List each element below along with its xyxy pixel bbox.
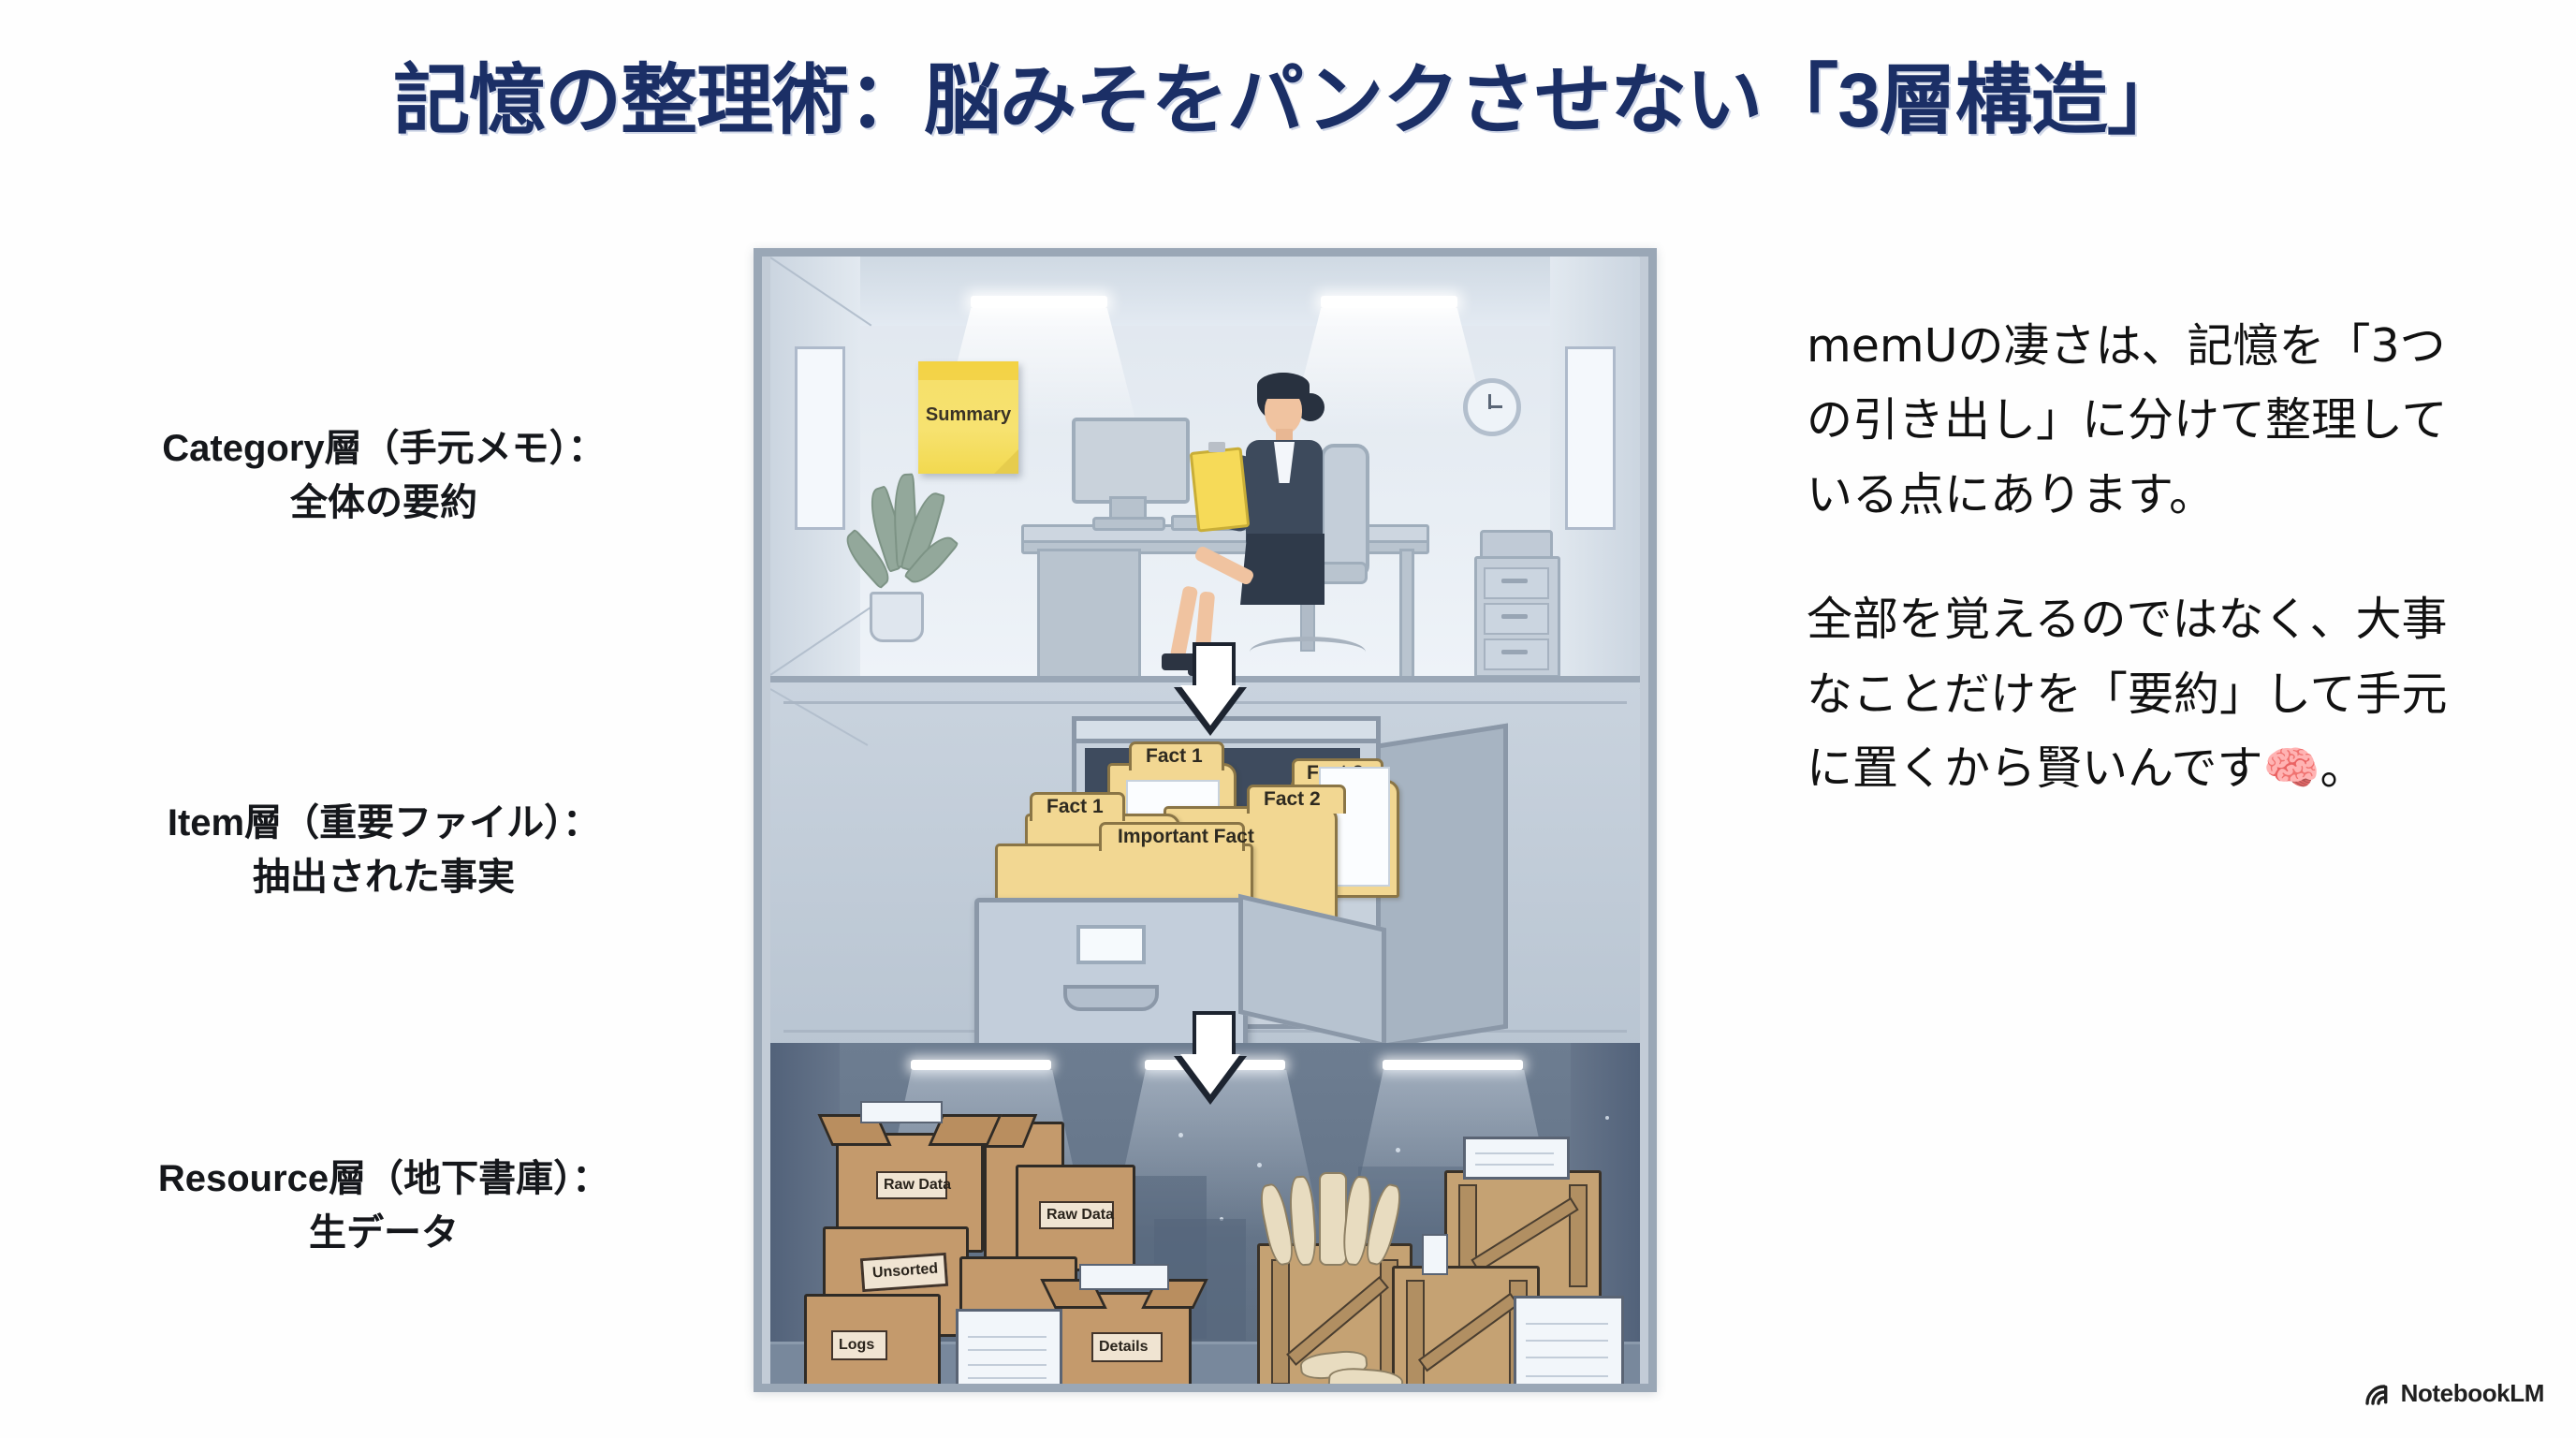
- paper-bundle: [860, 1101, 943, 1123]
- paper-stack-left: [956, 1309, 1062, 1384]
- office-window-left: [795, 346, 845, 530]
- notebooklm-watermark-label: NotebookLM: [2401, 1379, 2544, 1408]
- perspective-line: [1639, 257, 1640, 258]
- notebooklm-spiral-icon: [2364, 1380, 2392, 1408]
- body-text-column: memUの凄さは、記憶を「3つの引き出し」に分けて整理している点にあります。 全…: [1807, 309, 2462, 856]
- summary-sticky-note: Summary: [918, 361, 1018, 474]
- file-folder-label: Fact 1: [1146, 745, 1203, 768]
- cardboard-box: Raw Data: [1016, 1165, 1135, 1271]
- perspective-line: [1640, 676, 1641, 690]
- perspective-line: [770, 688, 868, 746]
- cabinet-drawer-handle: [1501, 614, 1528, 619]
- cabinet-drawer-handle: [1501, 650, 1528, 654]
- wall-clock-icon: [1463, 378, 1521, 436]
- paper-line: [1475, 1152, 1554, 1154]
- office-monitor-base: [1092, 517, 1165, 531]
- paper-line: [1475, 1164, 1554, 1166]
- clipboard: [1190, 447, 1251, 532]
- paper-line: [1526, 1375, 1608, 1377]
- basement-lamp-right: [1383, 1060, 1523, 1070]
- paper-line: [968, 1377, 1046, 1379]
- office-monitor-screen: [1072, 418, 1190, 504]
- box-label: Logs: [839, 1337, 874, 1354]
- crate-slat: [1406, 1280, 1425, 1384]
- layer-label-item-heading: Item層（重要ファイル）：: [56, 796, 711, 850]
- crate-slat-diagonal: [1471, 1197, 1578, 1272]
- paper-line: [1526, 1323, 1608, 1325]
- cardboard-box: Logs: [804, 1294, 941, 1384]
- file-folder-label: Fact 1: [1046, 796, 1104, 818]
- office-desk-leg: [1399, 549, 1414, 676]
- basement-lamp-left: [911, 1060, 1051, 1070]
- paper-stack-top: [1463, 1137, 1570, 1180]
- person-fringe: [1257, 373, 1310, 399]
- dust-mote: [1396, 1148, 1400, 1152]
- layer-label-category-subheading: 全体の要約: [56, 476, 711, 530]
- file-folder-label: Important Fact: [1118, 826, 1254, 848]
- paper-line: [968, 1349, 1046, 1351]
- layer-label-category-heading: Category層（手元メモ）：: [56, 421, 711, 476]
- paper-bundle: [1422, 1234, 1448, 1275]
- three-layer-building-illustration: Summary: [754, 248, 1657, 1392]
- ceiling-lamp-left: [971, 296, 1107, 308]
- office-ceiling: [770, 257, 1640, 326]
- top-floor-office: Summary: [770, 257, 1640, 676]
- arrow-head-fill: [1180, 685, 1240, 726]
- office-chair-back: [1321, 444, 1369, 579]
- layer-label-category: Category層（手元メモ）： 全体の要約: [56, 421, 711, 530]
- person-skirt: [1240, 534, 1325, 605]
- file-folder-label: Fact 2: [1264, 788, 1321, 811]
- cabinet-drawer-handle: [1501, 579, 1528, 583]
- cabinet-drawer: [1484, 567, 1549, 599]
- layer-label-resource: Resource層（地下書庫）： 生データ: [56, 1152, 711, 1260]
- dust-mote: [1178, 1133, 1183, 1137]
- page-title: 記憶の整理術：脳みそをパンクさせない「3層構造」: [0, 37, 2576, 149]
- sticky-note-top-strip: [918, 361, 1018, 380]
- paper-line: [1526, 1340, 1608, 1342]
- layer-label-resource-heading: Resource層（地下書庫）：: [56, 1152, 711, 1206]
- paper-scroll-open: [1319, 1172, 1347, 1266]
- layer-label-item-subheading: 抽出された事実: [56, 850, 711, 904]
- body-paragraph-1: memUの凄さは、記憶を「3つの引き出し」に分けて整理している点にあります。: [1807, 309, 2462, 532]
- paper-line: [968, 1336, 1046, 1338]
- slide-canvas: 記憶の整理術：脳みそをパンクさせない「3層構造」 Category層（手元メモ）…: [0, 0, 2576, 1438]
- layer-label-item: Item層（重要ファイル）： 抽出された事実: [56, 796, 711, 904]
- office-window-right: [1565, 346, 1616, 530]
- layer-label-resource-subheading: 生データ: [56, 1206, 711, 1260]
- box-label: Details: [1099, 1339, 1148, 1356]
- box-label: Raw Data: [884, 1177, 951, 1194]
- paper-bundle: [1079, 1264, 1169, 1290]
- sticky-note-fold: [994, 449, 1018, 474]
- dust-mote: [1605, 1116, 1609, 1120]
- crate-slat-diagonal: [1418, 1293, 1519, 1372]
- crate-slat: [1271, 1259, 1290, 1384]
- clipboard-clip: [1208, 442, 1225, 452]
- plant-pot: [870, 592, 924, 642]
- office-desk-pedestal: [1037, 549, 1141, 676]
- ceiling-lamp-right: [1321, 296, 1457, 308]
- notebooklm-watermark: NotebookLM: [2364, 1379, 2544, 1408]
- body-paragraph-2: 全部を覚えるのではなく、大事なことだけを「要約」して手元に置くから賢いんです🧠。: [1807, 582, 2462, 805]
- paper-line: [1526, 1357, 1608, 1358]
- clock-hand-minute: [1489, 405, 1502, 408]
- cabinet-drawer: [1484, 603, 1549, 635]
- box-label: Raw Data: [1046, 1207, 1114, 1224]
- sticky-note-label: Summary: [918, 404, 1018, 426]
- file-drawer-handle: [1063, 985, 1159, 1011]
- paper-line: [968, 1364, 1046, 1366]
- arrow-head-fill: [1180, 1054, 1240, 1094]
- office-filing-cabinet: [1474, 556, 1560, 676]
- dust-mote: [1257, 1163, 1262, 1167]
- paper-stack-right: [1514, 1296, 1624, 1384]
- cabinet-drawer: [1484, 638, 1549, 670]
- file-drawer-label-slot: [1076, 925, 1146, 964]
- office-chair-wheels: [1250, 637, 1366, 668]
